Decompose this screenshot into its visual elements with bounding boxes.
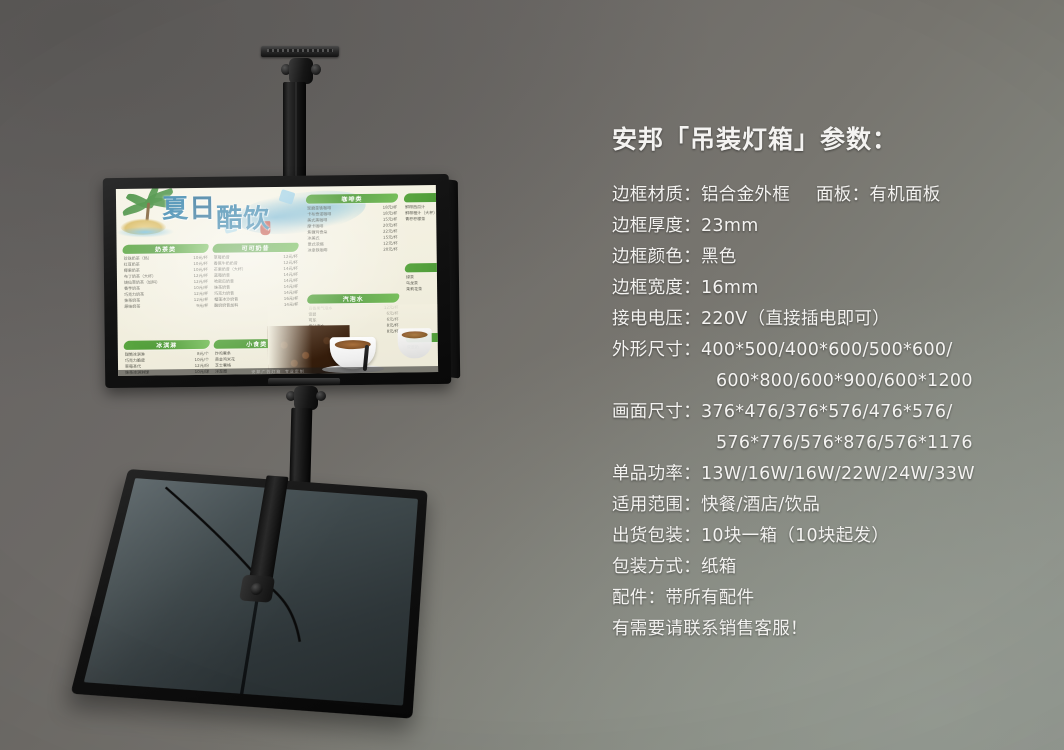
menu-item-name: 酸奶奶昔加料: [214, 302, 238, 308]
spec-line-extra: 面板：有机面板: [816, 185, 941, 205]
pivot-bolt-right-icon: [311, 64, 321, 75]
spec-line-frame-thickness: 边框厚度：23mm: [612, 211, 1052, 242]
spec-line-contact: 有需要请联系销售客服！: [612, 614, 1052, 645]
pivot-knuckle: [289, 58, 313, 84]
photo-fade-overlay: [267, 304, 438, 374]
menu-category-label: 奶茶类: [122, 244, 208, 254]
spec-title: 安邦「吊装灯箱」参数：: [612, 126, 1052, 154]
menu-item-name: 原味奶茶: [124, 304, 140, 310]
spec-line-outer-size: 外形尺寸：400*500/400*600/500*600/: [612, 335, 1052, 366]
specification-panel: 安邦「吊装灯箱」参数： 边框材质：铝合金外框面板：有机面板边框厚度：23mm边框…: [612, 126, 1052, 645]
menu-column-col-8: 茶饮绿茶8元/杯乌龙茶8元/杯茉莉花茶8元/杯: [405, 262, 438, 292]
spec-line-voltage: 接电电压：220V（直接插电即可）: [612, 304, 1052, 335]
menu-item-price: 9元/杯: [196, 303, 208, 309]
spec-line-scope: 适用范围：快餐/酒店/饮品: [612, 490, 1052, 521]
spec-line-text: 边框宽度：16mm: [612, 278, 759, 298]
menu-category-header: 果汁类: [404, 192, 438, 202]
spec-line-text: 有需要请联系销售客服！: [612, 619, 808, 639]
pivot-bolt-right-lower-icon: [316, 391, 326, 401]
menu-column-col-2: 可可奶昔草莓奶昔12元/杯香蕉牛奶奶昔12元/杯芒果奶昔（大杯）14元/杯蓝莓奶…: [213, 243, 300, 309]
spec-line-text: 单品功率：13W/16W/16W/22W/24W/33W: [612, 464, 975, 484]
headline-char-4: 饮: [243, 206, 270, 232]
spec-line-text: 边框颜色：黑色: [612, 247, 737, 267]
menu-item-row: 原味奶茶9元/杯: [123, 303, 209, 310]
spec-line-text: 配件：带所有配件: [612, 588, 754, 608]
product-photo-stage: 夏日酷饮 奶茶类珍珠奶茶（热）10元/杯红豆奶茶10元/杯椰果奶茶10元/杯布丁…: [0, 0, 1064, 750]
menu-category-label: 咖啡类: [306, 194, 398, 204]
menu-category-header: 茶饮: [405, 262, 438, 272]
spec-line-text: 出货包装：10块一箱（10块起发）: [612, 526, 889, 546]
pivot-knuckle-lower: [294, 386, 318, 410]
spec-line-power: 单品功率：13W/16W/16W/22W/24W/33W: [612, 459, 1052, 490]
spec-line-packing-method: 包装方式：纸箱: [612, 552, 1052, 583]
spec-line-list: 边框材质：铝合金外框面板：有机面板边框厚度：23mm边框颜色：黑色边框宽度：16…: [612, 180, 1052, 645]
menu-item-row: 青柠柠檬茶10元/杯: [404, 215, 438, 222]
menu-category-label: 冰淇淋: [124, 340, 210, 350]
light-box-back-panel: [70, 469, 427, 719]
menu-category-label: 汽泡水: [307, 294, 399, 304]
menu-category-header: 汽泡水: [307, 294, 399, 304]
headline-char-1: 夏: [162, 194, 189, 224]
menu-category-label: 可可奶昔: [212, 243, 298, 253]
menu-item-row: 茉莉花茶8元/杯: [405, 285, 438, 292]
menu-column-col-4: 果汁类鲜榨西瓜汁12元/杯鲜榨橙汁（大杯）14元/杯青柠柠檬茶10元/杯: [404, 192, 438, 222]
spec-line-text: 外形尺寸：400*500/400*600/500*600/: [612, 340, 953, 360]
headline-char-3: 酷: [216, 205, 243, 231]
menu-item-name: 青柠柠檬茶: [405, 216, 425, 222]
menu-category-header: 冰淇淋: [124, 340, 210, 350]
spec-line-text: 包装方式：纸箱: [612, 557, 737, 577]
coffee-photo: [267, 304, 438, 374]
ceiling-mount-upper: [253, 46, 349, 196]
spec-line-frame-width: 边框宽度：16mm: [612, 273, 1052, 304]
spec-line-text: 边框材质：铝合金外框: [612, 185, 790, 205]
menu-panel-face: 夏日酷饮 奶茶类珍珠奶茶（热）10元/杯红豆奶茶10元/杯椰果奶茶10元/杯布丁…: [116, 185, 438, 376]
spec-line-text: 576*776/576*876/576*1176: [716, 433, 973, 453]
menu-item-row: 冰拿铁咖啡20元/杯: [307, 247, 399, 254]
spec-line-text: 适用范围：快餐/酒店/饮品: [612, 495, 820, 515]
spec-line-frame-color: 边框颜色：黑色: [612, 242, 1052, 273]
spec-line-text: 画面尺寸：376*476/376*576/476*576/: [612, 402, 953, 422]
menu-category-header: 可可奶昔: [212, 243, 298, 253]
menu-light-box: 夏日酷饮 奶茶类珍珠奶茶（热）10元/杯红豆奶茶10元/杯椰果奶茶10元/杯布丁…: [103, 174, 452, 388]
menu-item-name: 茉莉花茶: [406, 286, 422, 292]
menu-category-header: 咖啡类: [306, 194, 398, 204]
menu-category-header: 奶茶类: [122, 244, 208, 254]
spec-line-picture-size: 画面尺寸：376*476/376*576/476*576/: [612, 397, 1052, 428]
headline-char-2: 日: [189, 194, 216, 224]
spec-line-picture-size-2: 576*776/576*876/576*1176: [612, 428, 1052, 459]
menu-column-col-3: 咖啡类现磨拿铁咖啡18元/杯卡布奇诺咖啡18元/杯美式黑咖啡15元/杯摩卡咖啡2…: [306, 194, 399, 254]
menu-item-name: 冰拿铁咖啡: [308, 247, 328, 253]
spec-line-text: 接电电压：220V（直接插电即可）: [612, 309, 890, 329]
spec-line-accessories: 配件：带所有配件: [612, 583, 1052, 614]
spec-line-text: 600*800/600*900/600*1200: [716, 371, 973, 391]
spec-line-packing: 出货包装：10块一箱（10块起发）: [612, 521, 1052, 552]
spec-line-frame-material: 边框材质：铝合金外框面板：有机面板: [612, 180, 1052, 211]
menu-item-price: 20元/杯: [383, 247, 398, 253]
back-panel-clamp: [239, 575, 275, 603]
spec-line-text: 边框厚度：23mm: [612, 216, 759, 236]
menu-category-label: 果汁类: [404, 192, 438, 202]
spec-line-outer-size-2: 600*800/600*900/600*1200: [612, 366, 1052, 397]
menu-category-label: 茶饮: [405, 262, 438, 272]
menu-column-col-1: 奶茶类珍珠奶茶（热）10元/杯红豆奶茶10元/杯椰果奶茶10元/杯布丁奶茶（大杯…: [123, 244, 210, 310]
